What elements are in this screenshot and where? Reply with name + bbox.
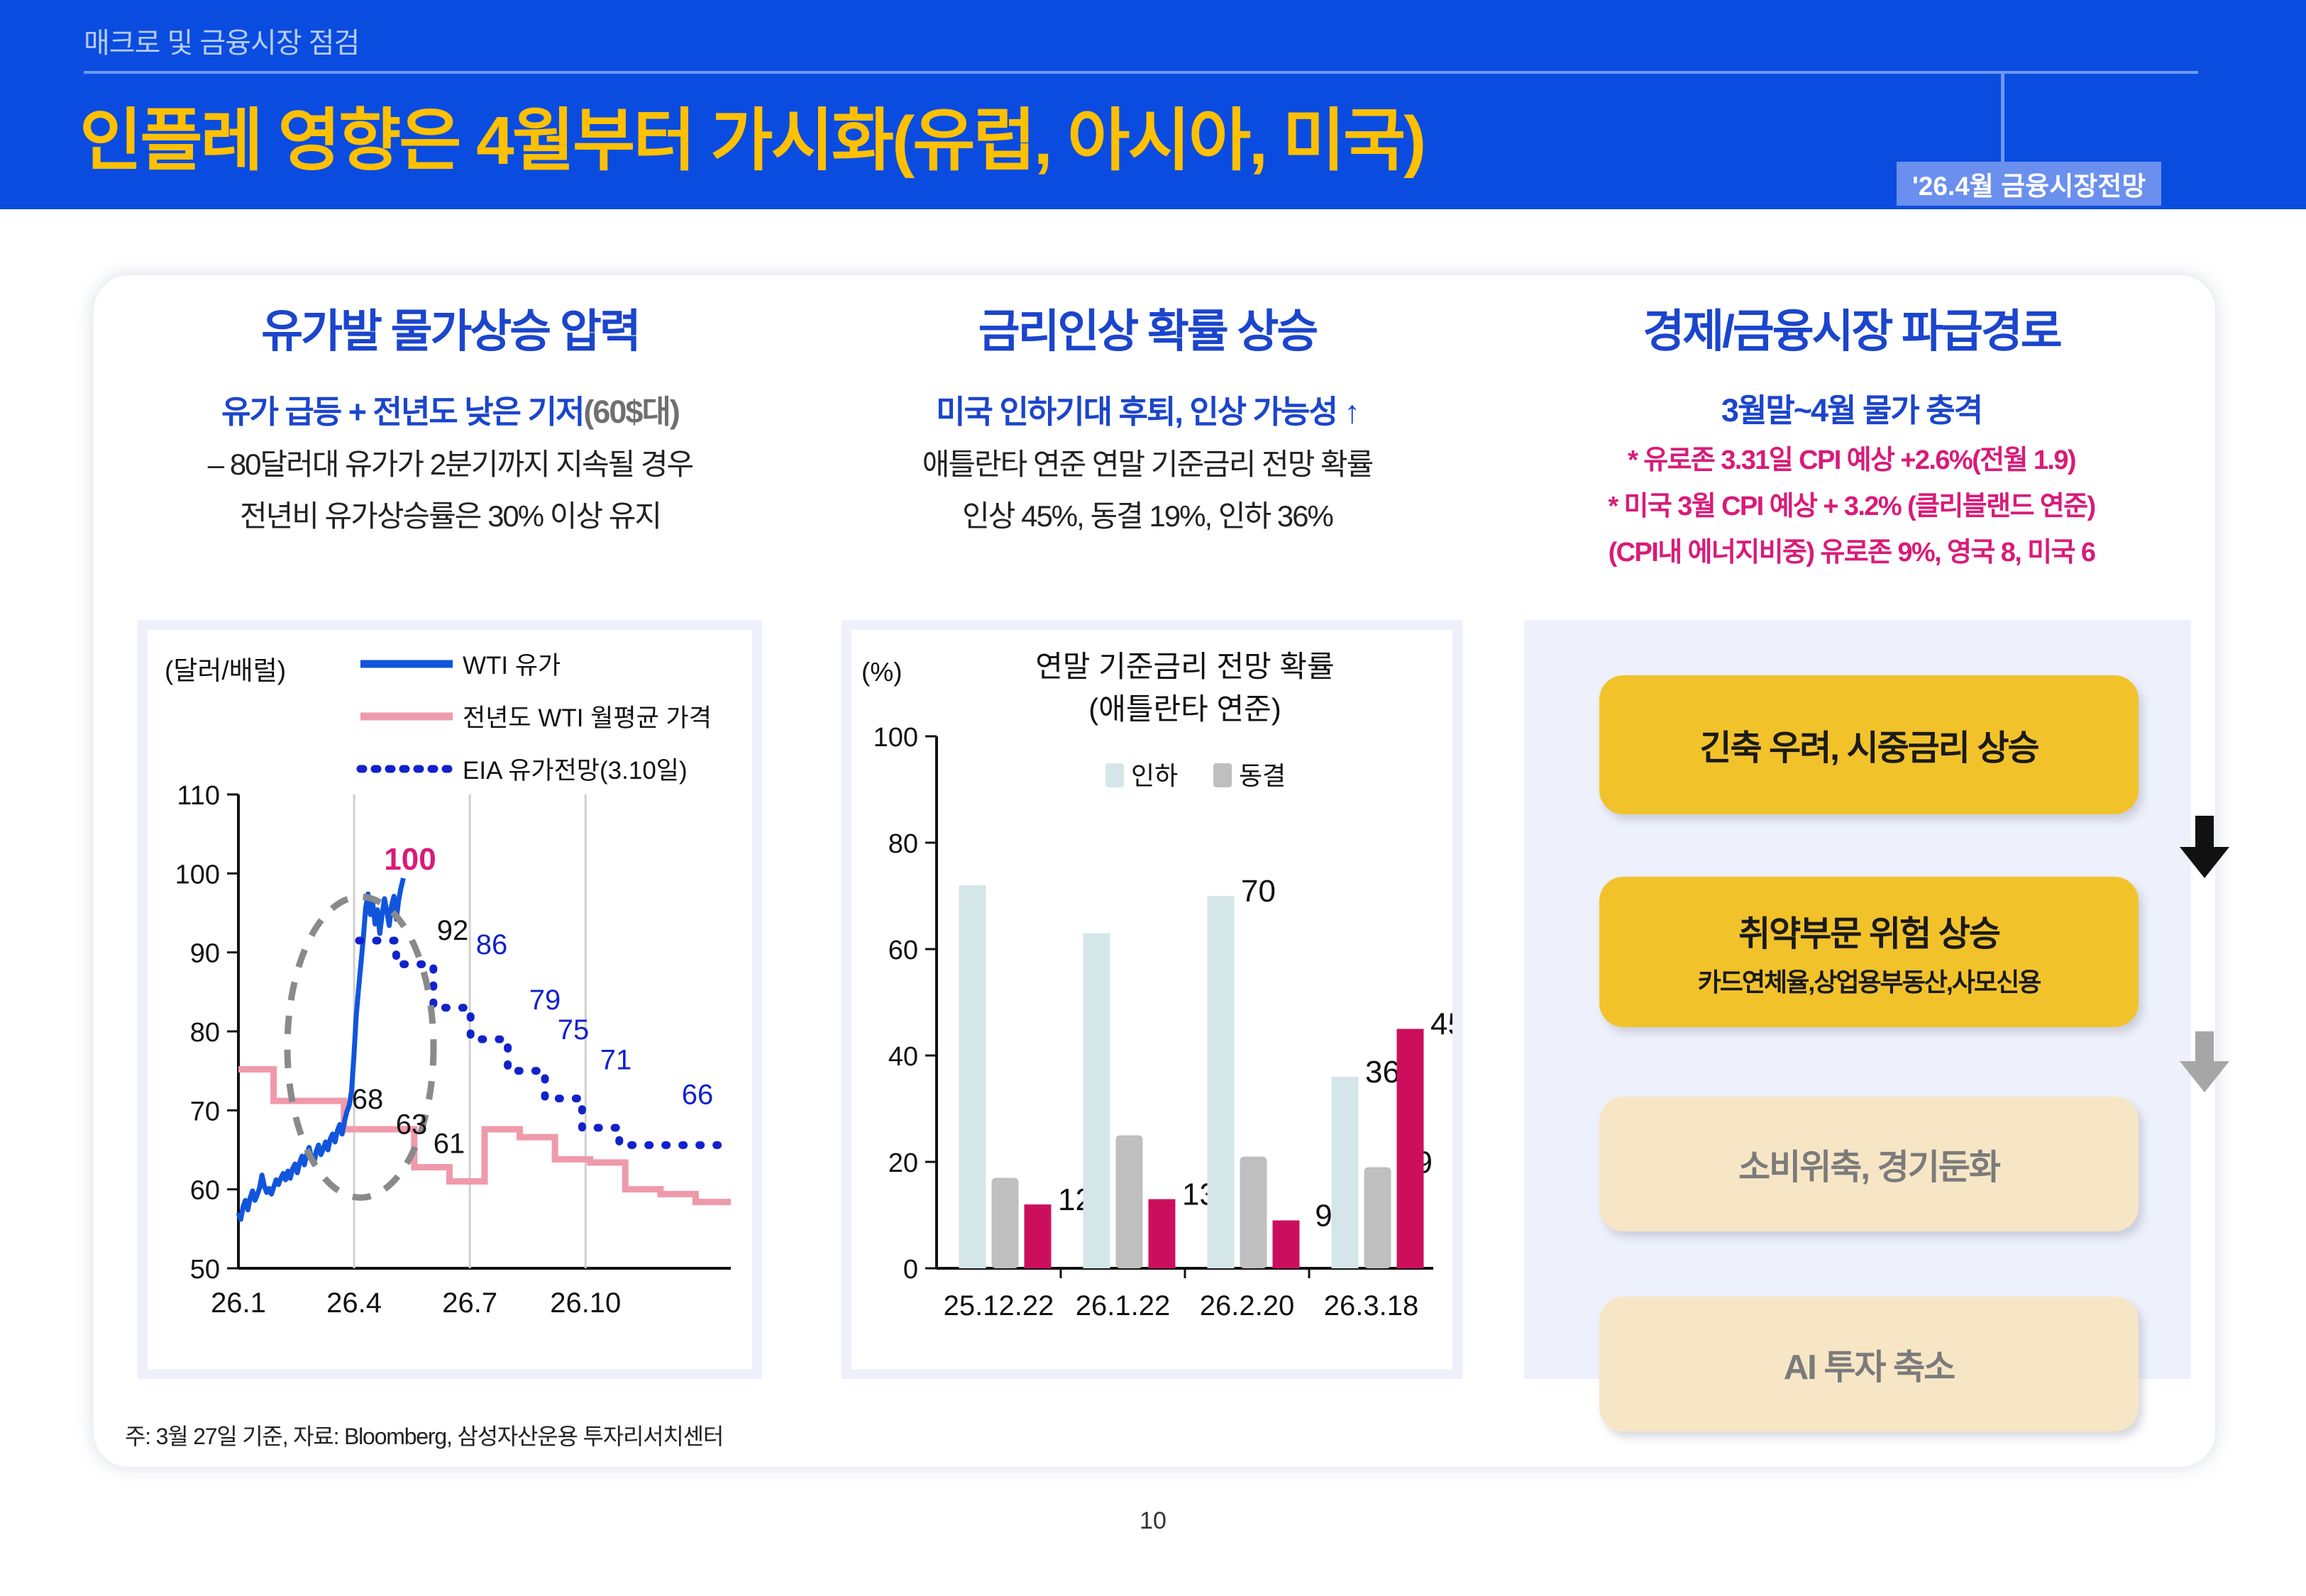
fed-rate-probability-chart: (%)연말 기준금리 전망 확률(애틀란타 연준)인하동결02040608010… [851, 630, 1452, 1369]
flow-box-4-title: AI 투자 축소 [1784, 1339, 1955, 1390]
page-title: 인플레 영향은 4월부터 가시화(유럽, 아시아, 미국) [79, 85, 1424, 184]
svg-text:26.3.18: 26.3.18 [1324, 1290, 1418, 1321]
svg-text:0: 0 [903, 1255, 918, 1285]
column2-title: 금리인상 확률 상승 [807, 295, 1488, 360]
svg-text:26.1.22: 26.1.22 [1076, 1290, 1170, 1321]
flow-box-2-title: 취약부문 위험 상승 [1738, 906, 1999, 956]
svg-text:40: 40 [888, 1042, 918, 1072]
svg-text:26.2.20: 26.2.20 [1200, 1290, 1294, 1321]
page-number: 10 [0, 1507, 2306, 1535]
svg-text:68: 68 [352, 1084, 384, 1115]
svg-text:45: 45 [1430, 1007, 1452, 1042]
transmission-flow-panel: 긴축 우려, 시중금리 상승 취약부문 위험 상승 카드연체율,상업용부동산,사… [1524, 620, 2191, 1379]
header-divider-rule [84, 71, 2198, 74]
wti-oil-chart: (달러/배럴)WTI 유가전년도 WTI 월평균 가격EIA 유가전망(3.10… [148, 630, 752, 1369]
status-badge: '26.4월 금융시장전망 [1897, 162, 2161, 206]
svg-text:(달러/배럴): (달러/배럴) [165, 656, 286, 685]
svg-text:110: 110 [177, 781, 220, 811]
svg-text:50: 50 [190, 1255, 220, 1285]
wti-oil-chart-panel: (달러/배럴)WTI 유가전년도 WTI 월평균 가격EIA 유가전망(3.10… [138, 620, 762, 1379]
flow-box-2-subtitle: 카드연체율,상업용부동산,사모신용 [1698, 962, 2041, 999]
flow-box-ai-investment-cut[interactable]: AI 투자 축소 [1599, 1297, 2139, 1431]
svg-text:36: 36 [1365, 1055, 1400, 1090]
svg-text:79: 79 [529, 985, 561, 1016]
column1-line-1: – 80달러대 유가가 2분기까지 지속될 경우 [94, 440, 807, 484]
column1-subtitle: 유가 급등 + 전년도 낮은 기저(60$대) [94, 386, 807, 432]
svg-text:61: 61 [434, 1128, 465, 1159]
flow-diagram: 긴축 우려, 시중금리 상승 취약부문 위험 상승 카드연체율,상업용부동산,사… [1534, 630, 2181, 1369]
svg-text:26.10: 26.10 [550, 1287, 621, 1319]
svg-text:25.12.22: 25.12.22 [944, 1290, 1054, 1321]
column1-subtitle-main: 유가 급등 + 전년도 낮은 기저 [221, 394, 583, 430]
column-oil-inflation: 유가발 물가상승 압력 유가 급등 + 전년도 낮은 기저(60$대) – 80… [94, 275, 807, 536]
column1-line-2: 전년비 유가상승률은 30% 이상 유지 [94, 492, 807, 536]
slide-header: 매크로 및 금융시장 점검 인플레 영향은 4월부터 가시화(유럽, 아시아, … [0, 0, 2306, 209]
svg-text:100: 100 [175, 860, 220, 890]
svg-text:60: 60 [190, 1176, 220, 1206]
flow-box-vulnerable-sector[interactable]: 취약부문 위험 상승 카드연체율,상업용부동산,사모신용 [1599, 877, 2139, 1027]
svg-text:EIA 유가전망(3.10일): EIA 유가전망(3.10일) [463, 757, 688, 785]
main-content-card: 유가발 물가상승 압력 유가 급등 + 전년도 낮은 기저(60$대) – 80… [94, 275, 2215, 1467]
svg-text:66: 66 [682, 1079, 714, 1110]
flow-box-consumption-slowdown[interactable]: 소비위축, 경기둔화 [1599, 1097, 2139, 1231]
footnote: 주: 3월 27일 기준, 자료: Bloomberg, 삼성자산운용 투자리서… [125, 1419, 723, 1451]
svg-text:75: 75 [558, 1014, 590, 1046]
column1-title: 유가발 물가상승 압력 [94, 295, 807, 360]
svg-text:60: 60 [888, 936, 918, 965]
svg-text:71: 71 [600, 1044, 632, 1075]
svg-text:80: 80 [888, 829, 918, 859]
column1-subtitle-paren: (60$대) [583, 394, 678, 430]
svg-text:26.4: 26.4 [326, 1287, 382, 1319]
header-vertical-divider [2001, 71, 2004, 163]
svg-text:(애틀란타 연준): (애틀란타 연준) [1088, 692, 1281, 726]
svg-text:인하: 인하 [1131, 761, 1178, 790]
column3-pink-line-3: (CPI내 에너지비중) 유로존 9%, 영국 8, 미국 6 [1488, 530, 2215, 569]
column2-line-1: 애틀란타 연준 연말 기준금리 전망 확률 [807, 440, 1488, 484]
svg-text:20: 20 [888, 1148, 918, 1178]
svg-text:26.1: 26.1 [211, 1287, 266, 1319]
svg-text:100: 100 [384, 842, 436, 877]
column-transmission-path: 경제/금융시장 파급경로 3월말~4월 물가 충격 * 유로존 3.31일 CP… [1488, 275, 2215, 569]
svg-text:92: 92 [437, 915, 469, 946]
column3-subtitle: 3월말~4월 물가 충격 [1488, 384, 2215, 431]
header-kicker: 매크로 및 금융시장 점검 [84, 20, 359, 61]
flow-box-1-title: 긴축 우려, 시중금리 상승 [1699, 720, 2038, 770]
flow-box-tightening[interactable]: 긴축 우려, 시중금리 상승 [1599, 675, 2139, 814]
svg-text:26.7: 26.7 [442, 1287, 497, 1319]
svg-text:63: 63 [396, 1109, 428, 1141]
svg-text:전년도 WTI 월평균 가격: 전년도 WTI 월평균 가격 [463, 704, 712, 732]
svg-text:90: 90 [190, 939, 220, 969]
flow-box-3-title: 소비위축, 경기둔화 [1738, 1139, 1999, 1190]
svg-text:9: 9 [1315, 1199, 1332, 1234]
svg-text:70: 70 [1241, 874, 1276, 909]
fed-rate-chart-panel: (%)연말 기준금리 전망 확률(애틀란타 연준)인하동결02040608010… [842, 620, 1462, 1379]
svg-text:80: 80 [190, 1018, 220, 1048]
column3-title: 경제/금융시장 파급경로 [1488, 295, 2215, 360]
svg-text:연말 기준금리 전망 확률: 연말 기준금리 전망 확률 [1035, 650, 1334, 683]
svg-text:(%): (%) [861, 658, 903, 687]
column2-subtitle: 미국 인하기대 후퇴, 인상 가능성 ↑ [807, 386, 1488, 432]
svg-text:70: 70 [190, 1097, 220, 1126]
column2-line-2: 인상 45%, 동결 19%, 인하 36% [807, 492, 1488, 536]
column-rate-probability: 금리인상 확률 상승 미국 인하기대 후퇴, 인상 가능성 ↑ 애틀란타 연준 … [807, 275, 1488, 536]
svg-text:100: 100 [873, 723, 918, 753]
column3-pink-line-1: * 유로존 3.31일 CPI 예상 +2.6%(전월 1.9) [1488, 438, 2215, 477]
svg-text:동결: 동결 [1239, 761, 1286, 790]
column3-pink-line-2: * 미국 3월 CPI 예상 + 3.2% (클리블랜드 연준) [1488, 484, 2215, 523]
svg-text:86: 86 [476, 929, 508, 960]
svg-text:WTI 유가: WTI 유가 [463, 652, 561, 680]
